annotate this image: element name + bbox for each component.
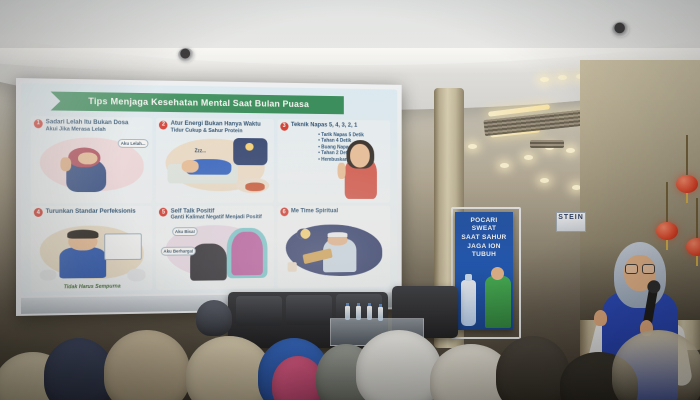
tip-card-3: 3 Teknik Napas 5, 4, 3, 2, 1 Tarik Napas… xyxy=(277,119,390,202)
speaker-raised-hand xyxy=(594,310,607,326)
glasses-icon xyxy=(625,264,655,272)
red-lantern-icon xyxy=(676,175,698,193)
tip-card-4: 4 Turunkan Standar Perfeksionis xyxy=(31,205,153,291)
tip-number-badge: 4 xyxy=(34,208,43,217)
tip-number-badge: 2 xyxy=(159,120,168,129)
slide-title: Tips Menjaga Kesehatan Mental Saat Bulan… xyxy=(88,96,309,110)
tip-subtitle: Ganti Kalimat Negatif Menjadi Positif xyxy=(171,214,262,221)
sofa-cushion xyxy=(236,296,282,326)
screenshot-root: STEIN Tips Menjaga Kesehatan Mental Saat… xyxy=(0,0,700,400)
tip-illustration-sleeping-sahur: Zzz... xyxy=(158,134,271,195)
tip-text: Me Time Spiritual xyxy=(291,207,338,214)
tip-number-badge: 1 xyxy=(34,119,43,128)
ceiling-vent xyxy=(530,140,564,148)
tip-header: 3 Teknik Napas 5, 4, 3, 2, 1 xyxy=(280,121,388,131)
tip-illustration-quran-night xyxy=(279,221,388,281)
tip-header: 2 Atur Energi Bukan Hanya Waktu Tidur Cu… xyxy=(159,120,271,135)
pocari-sweat-banner: POCARI SWEAT SAAT SAHUR JAGA ION TUBUH xyxy=(455,212,513,330)
downlight-icon xyxy=(540,77,549,82)
audience-head xyxy=(356,330,442,400)
downlight-icon xyxy=(566,148,575,153)
tip-header: 6 Me Time Spiritual xyxy=(280,207,388,216)
speech-bubble: Aku Lelah... xyxy=(118,139,148,148)
tip-header: 4 Turunkan Standar Perfeksionis xyxy=(34,207,150,217)
presentation-slide: Tips Menjaga Kesehatan Mental Saat Bulan… xyxy=(21,83,397,296)
audience-head-back xyxy=(196,300,232,336)
ceiling-spotlight-icon xyxy=(178,48,194,62)
shop-sign-label: STEIN xyxy=(557,213,585,223)
banner-line3: JAGA ION TUBUH xyxy=(455,242,513,259)
tip-header: 5 Self Talk Positif Ganti Kalimat Negati… xyxy=(159,207,271,221)
water-bottle xyxy=(367,306,372,320)
bottle-illustration xyxy=(461,280,476,326)
tip-card-1: 1 Sadari Lelah Itu Bukan Dosa Akui Jika … xyxy=(31,116,153,202)
downlight-icon xyxy=(500,163,509,168)
sleep-bubble: Zzz... xyxy=(193,147,208,155)
tip-number-badge: 6 xyxy=(280,208,288,217)
tip-text: Teknik Napas 5, 4, 3, 2, 1 xyxy=(291,121,357,129)
downlight-icon xyxy=(468,144,477,149)
downlight-icon xyxy=(540,178,549,183)
shop-sign: STEIN xyxy=(556,212,586,232)
water-bottle xyxy=(345,306,350,320)
tip-number-badge: 3 xyxy=(280,122,288,131)
banner-person-illustration xyxy=(485,276,511,328)
water-bottle xyxy=(378,307,383,321)
tip-caption: Tidak Harus Sempurna xyxy=(31,283,153,291)
tip-text: Atur Energi Bukan Hanya Waktu Tidur Cuku… xyxy=(171,120,261,135)
tip-illustration-checklist-man xyxy=(33,222,151,285)
tip-title: Teknik Napas 5, 4, 3, 2, 1 xyxy=(291,121,357,129)
ceiling-spotlight-icon xyxy=(612,22,629,37)
speech-bubble: Aku Bisa! xyxy=(172,227,198,236)
tip-text: Self Talk Positif Ganti Kalimat Negatif … xyxy=(171,207,262,221)
tip-card-6: 6 Me Time Spiritual xyxy=(277,205,390,288)
downlight-icon xyxy=(524,155,533,160)
tip-text: Turunkan Standar Perfeksionis xyxy=(46,207,136,215)
tip-illustration-breathing-woman xyxy=(336,135,388,201)
tip-illustration-tired-woman: Aku Lelah... xyxy=(33,133,151,195)
water-bottle xyxy=(356,306,361,320)
tip-card-2: 2 Atur Energi Bukan Hanya Waktu Tidur Cu… xyxy=(156,118,273,203)
tip-header: 1 Sadari Lelah Itu Bukan Dosa Akui Jika … xyxy=(34,118,150,134)
tips-grid: 1 Sadari Lelah Itu Bukan Dosa Akui Jika … xyxy=(31,116,390,292)
sofa-cushion xyxy=(286,295,332,325)
tip-card-5: 5 Self Talk Positif Ganti Kalimat Negati… xyxy=(156,205,273,290)
tip-text: Sadari Lelah Itu Bukan Dosa Akui Jika Me… xyxy=(46,118,129,133)
speech-bubble-secondary: Aku Berharga! xyxy=(161,246,197,255)
tip-number-badge: 5 xyxy=(159,208,168,217)
banner-line2: SAAT SAHUR xyxy=(455,233,513,242)
tip-title: Me Time Spiritual xyxy=(291,207,338,214)
tip-title: Turunkan Standar Perfeksionis xyxy=(46,207,136,215)
projection-screen: Tips Menjaga Kesehatan Mental Saat Bulan… xyxy=(16,78,402,316)
slide-title-ribbon: Tips Menjaga Kesehatan Mental Saat Bulan… xyxy=(51,92,344,115)
downlight-icon xyxy=(558,75,567,80)
banner-brand: POCARI SWEAT xyxy=(455,212,513,233)
tip-illustration-mirror-selftalk: Aku Bisa! Aku Berharga! xyxy=(158,222,271,284)
